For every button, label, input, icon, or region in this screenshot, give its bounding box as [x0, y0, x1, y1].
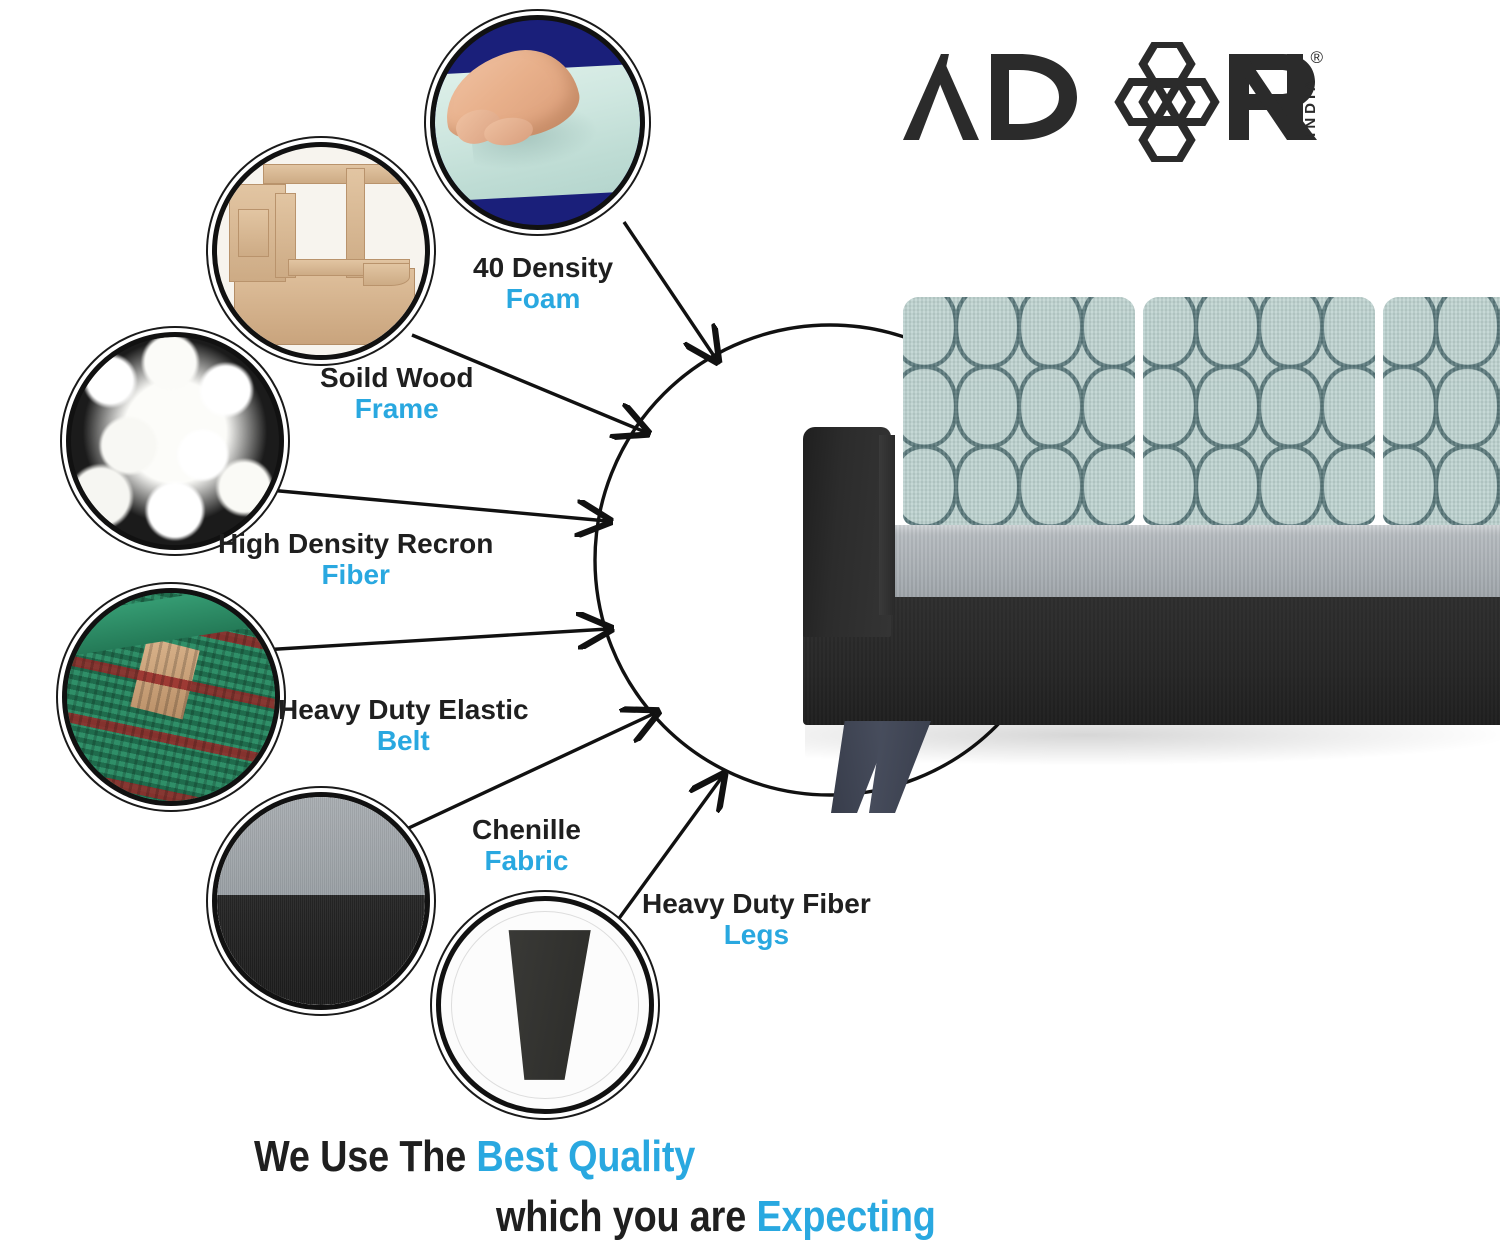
- tagline-line-1: We Use The Best Quality: [254, 1132, 1154, 1182]
- sofa-arm-inner: [879, 435, 895, 615]
- feature-image-fabric: [212, 792, 430, 1010]
- feature-highlight-fabric: Fabric: [472, 845, 581, 876]
- feature-title-foam: 40 Density: [473, 252, 613, 283]
- arrow-foam: [624, 222, 716, 359]
- arrow-fiber: [258, 489, 607, 521]
- infographic-canvas: INDIA ® 40 Density: [0, 0, 1500, 1250]
- sofa-base: [803, 597, 1500, 725]
- tagline-line2-plain: which you are: [496, 1192, 756, 1241]
- back-cushion-3: [1383, 297, 1500, 525]
- feature-title-fiber: High Density Recron: [218, 528, 493, 559]
- logo-india-text: INDIA: [1302, 76, 1319, 137]
- tagline: We Use The Best Quality which you are Ex…: [0, 1132, 1300, 1242]
- feature-image-foam: [430, 15, 645, 230]
- feature-title-legs: Heavy Duty Fiber: [642, 888, 871, 919]
- feature-title-belt: Heavy Duty Elastic: [278, 694, 529, 725]
- back-cushion-1: [903, 297, 1135, 525]
- feature-image-frame: [212, 142, 430, 360]
- feature-highlight-foam: Foam: [473, 283, 613, 314]
- sofa-photo: [795, 275, 1500, 795]
- feature-title-fabric: Chenille: [472, 814, 581, 845]
- arrow-belt: [262, 629, 608, 650]
- tagline-line2-highlight: Expecting: [756, 1192, 935, 1241]
- feature-highlight-legs: Legs: [642, 919, 871, 950]
- feature-label-fabric: Chenille Fabric: [472, 814, 581, 877]
- sofa-arm-left: [803, 427, 891, 637]
- feature-image-belt: [62, 588, 280, 806]
- feature-highlight-frame: Frame: [320, 393, 473, 424]
- tagline-line1-plain: We Use The: [254, 1132, 476, 1181]
- feature-label-fiber: High Density Recron Fiber: [218, 528, 493, 591]
- feature-highlight-fiber: Fiber: [218, 559, 493, 590]
- back-cushion-2: [1143, 297, 1375, 525]
- feature-highlight-belt: Belt: [278, 725, 529, 756]
- tagline-line-2: which you are Expecting: [496, 1192, 1187, 1242]
- feature-image-fiber: [66, 332, 284, 550]
- seat-cushion: [837, 525, 1500, 603]
- brand-logo: INDIA ®: [895, 42, 1325, 162]
- feature-label-belt: Heavy Duty Elastic Belt: [278, 694, 529, 757]
- tagline-line1-highlight: Best Quality: [476, 1132, 695, 1181]
- adorn-logo-n: [895, 42, 1325, 162]
- feature-image-legs: [436, 896, 654, 1114]
- feature-label-legs: Heavy Duty Fiber Legs: [642, 888, 871, 951]
- registered-trademark-icon: ®: [1310, 48, 1323, 68]
- feature-title-frame: Soild Wood: [320, 362, 473, 393]
- feature-label-frame: Soild Wood Frame: [320, 362, 473, 425]
- feature-label-foam: 40 Density Foam: [473, 252, 613, 315]
